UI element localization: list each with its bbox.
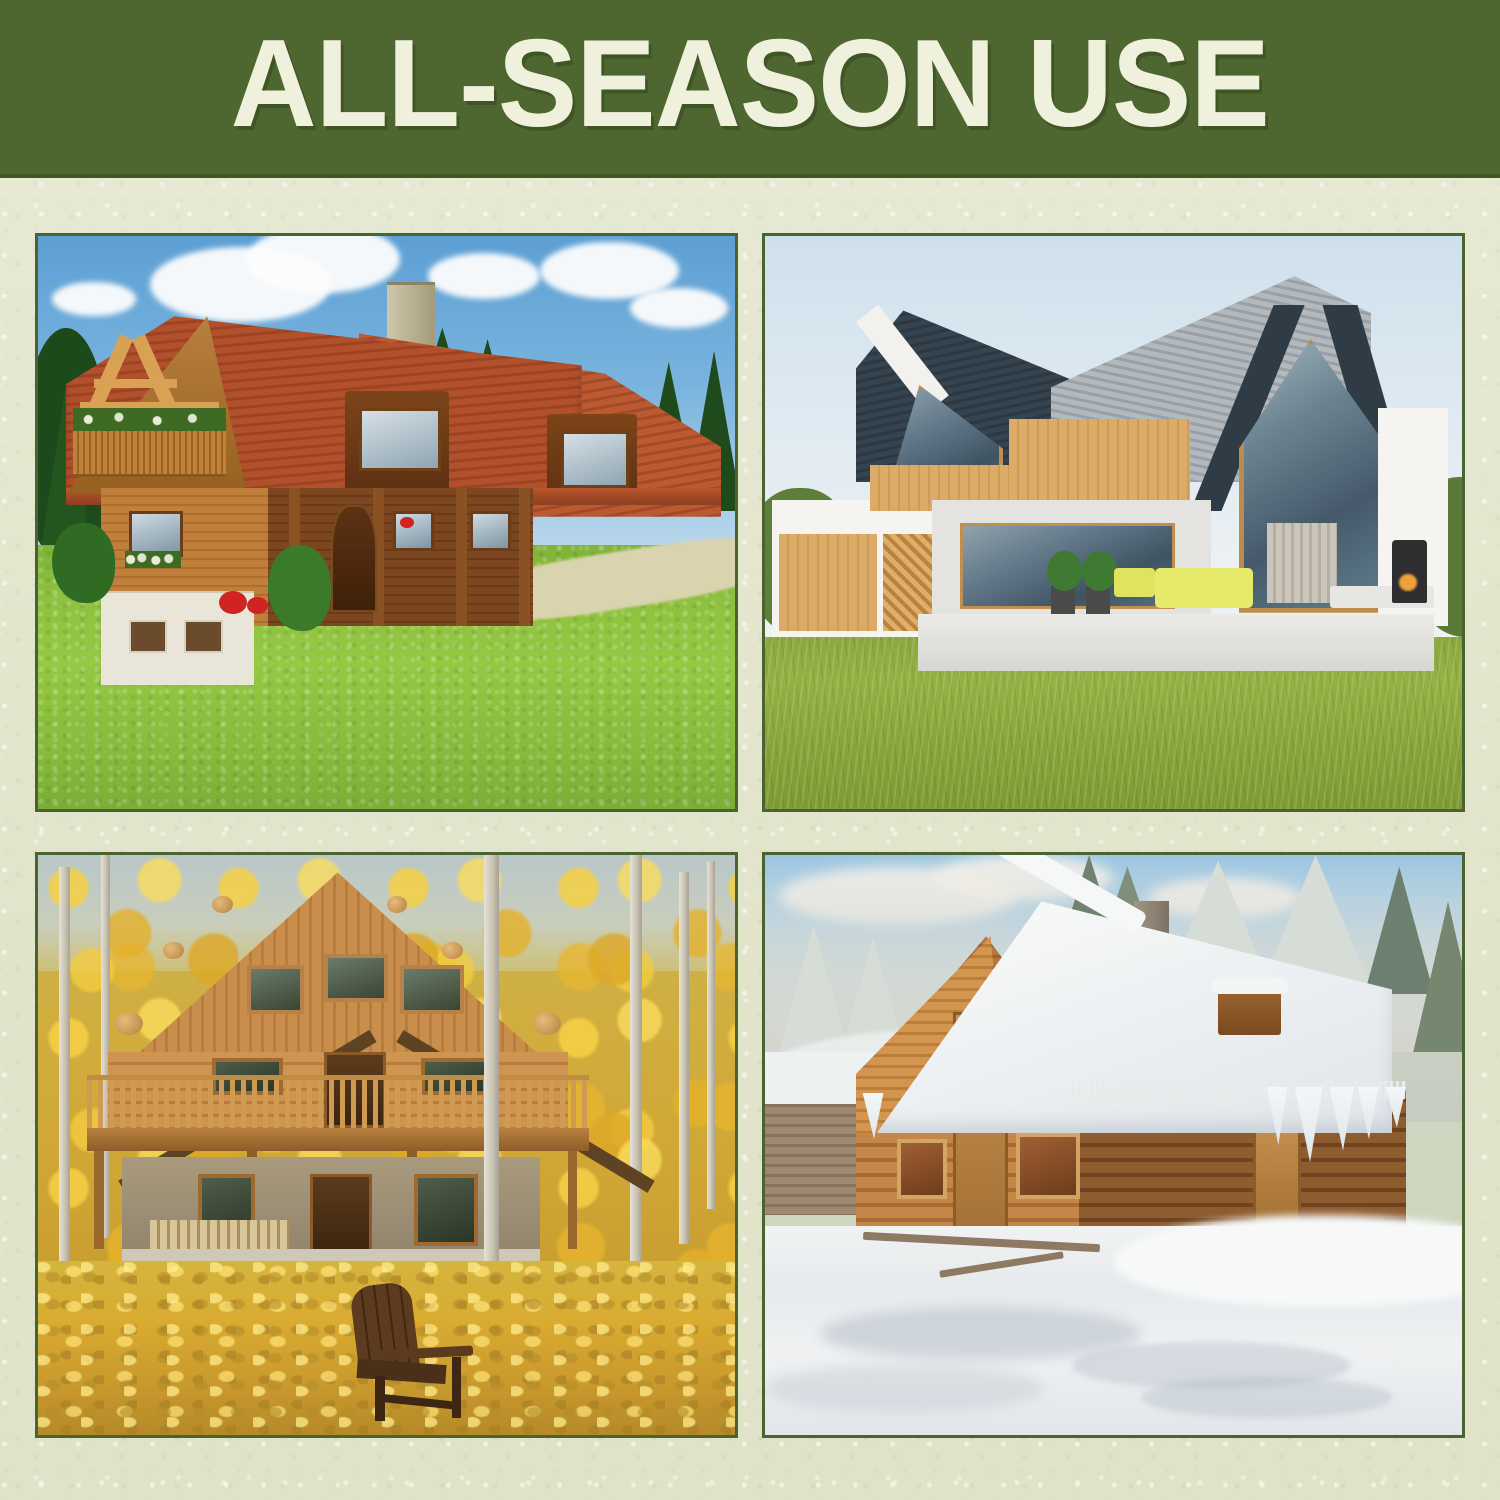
- entrance-door: [310, 1174, 372, 1255]
- balcony-deck: [87, 1128, 589, 1151]
- terrace-chair: [1114, 568, 1156, 597]
- window: [470, 511, 511, 551]
- window-flower-box: [125, 551, 181, 568]
- log-end: [212, 896, 233, 913]
- balcony-post: [94, 1151, 104, 1250]
- birch-trunk: [59, 867, 70, 1285]
- basement-window: [184, 620, 223, 653]
- gable-truss-beam: [94, 379, 178, 388]
- scene-modern-gable-house: [765, 236, 1462, 809]
- scene-winter-log-cabin: [765, 855, 1462, 1435]
- photo-spring-summer-chalet[interactable]: [35, 233, 738, 812]
- log-end: [533, 1012, 561, 1035]
- photo-autumn-log-cabin[interactable]: [35, 852, 738, 1438]
- cloud: [428, 253, 540, 299]
- gable-window: [247, 965, 304, 1014]
- snow-shadow: [765, 1365, 1044, 1411]
- marketing-image-canvas: ALL-SEASON USE: [0, 0, 1500, 1500]
- scene-spring-summer-chalet: [38, 236, 735, 809]
- balcony-railing: [73, 425, 226, 477]
- yellow-sofa: [1155, 568, 1253, 608]
- stone-wall: [1267, 523, 1337, 603]
- terrace-deck: [918, 614, 1434, 671]
- shrub: [52, 523, 115, 603]
- dormer-snow-cap: [1211, 977, 1288, 994]
- basement-window: [129, 620, 168, 653]
- photo-grid: [35, 233, 1465, 1438]
- flower-box: [73, 408, 226, 431]
- dormer-window: [359, 408, 442, 471]
- eave-frost: [1072, 1081, 1407, 1098]
- chair-stretcher: [381, 1394, 461, 1411]
- log-end: [387, 896, 408, 913]
- adirondack-chair: [345, 1284, 498, 1423]
- photo-winter-log-cabin[interactable]: [762, 852, 1465, 1438]
- dormer-window: [561, 431, 630, 489]
- birch-trunk: [707, 861, 715, 1209]
- porch-post: [519, 488, 530, 626]
- page-title: ALL-SEASON USE: [231, 22, 1269, 152]
- birch-trunk-foreground: [484, 855, 499, 1284]
- shrub: [268, 545, 331, 631]
- ground-window: [414, 1174, 478, 1246]
- topiary-bush: [1082, 551, 1117, 591]
- chair-seat: [356, 1359, 446, 1385]
- gable-window: [400, 965, 464, 1014]
- cloud: [630, 288, 728, 328]
- birch-trunk: [679, 872, 689, 1243]
- window: [897, 1139, 947, 1199]
- window: [1016, 1133, 1080, 1199]
- photo-modern-gable-house[interactable]: [762, 233, 1465, 812]
- header-banner: ALL-SEASON USE: [0, 0, 1500, 178]
- wood-clad-panel: [779, 534, 877, 631]
- log-end: [115, 1012, 143, 1035]
- outdoor-stove: [1392, 540, 1427, 603]
- balcony-post: [568, 1151, 578, 1250]
- stove-fire: [1399, 574, 1416, 591]
- firewood-stack: [150, 1220, 289, 1249]
- red-flowers: [247, 597, 268, 614]
- entrance-door: [331, 505, 377, 612]
- window: [393, 511, 434, 551]
- snow-track: [1141, 1377, 1392, 1418]
- roof-dormer: [1218, 988, 1281, 1034]
- birch-trunk: [630, 855, 642, 1261]
- porch-post: [456, 488, 467, 626]
- wood-clad-upper: [1009, 419, 1190, 511]
- cloud: [52, 282, 136, 316]
- gable-window: [324, 954, 388, 1003]
- scene-autumn-log-cabin: [38, 855, 735, 1435]
